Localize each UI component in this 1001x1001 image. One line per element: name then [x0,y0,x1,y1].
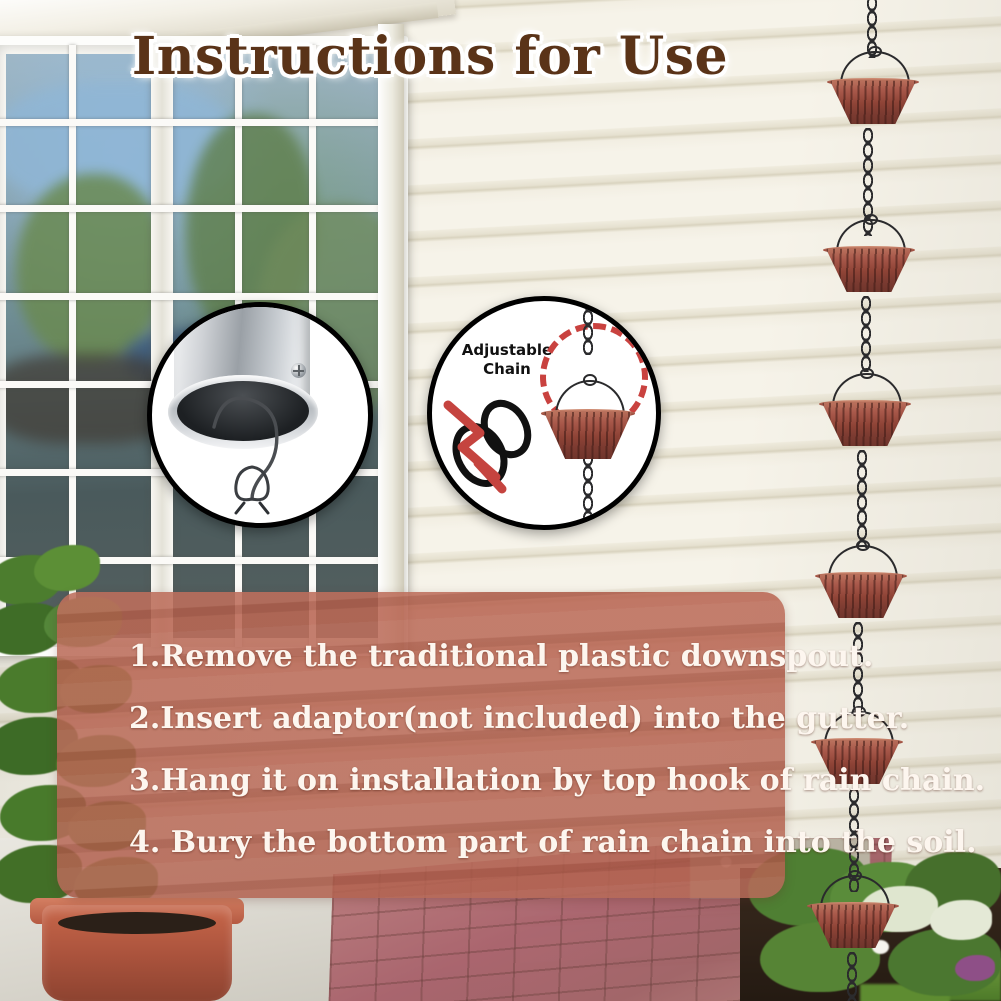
chain-segment-top [582,296,594,355]
rain-chain-cup [810,902,896,948]
instruction-image: Instructions for Use Adjustable Chain [0,0,1001,1001]
window-corner-trim [378,24,404,664]
pot-soil [58,912,216,934]
instruction-step: 3.Hang it on installation by top hook of… [129,756,757,806]
page-title: Instructions for Use [0,26,860,87]
tree-reflection [16,174,166,364]
rain-chain-cup [826,246,912,292]
rain-chain-cup [822,400,908,446]
window-muntin-horizontal [0,119,399,126]
instruction-step: 4. Bury the bottom part of rain chain in… [129,818,757,868]
window-muntin-horizontal [0,293,399,300]
instruction-steps-list: 1.Remove the traditional plastic downspo… [129,632,757,880]
copper-cup-detail [544,409,632,459]
inset-adaptor-detail [147,302,373,528]
instructions-panel: 1.Remove the traditional plastic downspo… [57,592,785,898]
instruction-step: 1.Remove the traditional plastic downspo… [129,632,757,682]
inset-adjustable-chain-detail: Adjustable Chain [427,296,661,530]
rain-chain-cup [818,572,904,618]
v-shaped-top-hook [152,307,368,523]
window-muntin-horizontal [0,205,399,212]
instruction-step: 2.Insert adaptor(not included) into the … [129,694,757,744]
chain-link-pair [440,393,560,503]
chain-segment-bottom [582,451,594,530]
